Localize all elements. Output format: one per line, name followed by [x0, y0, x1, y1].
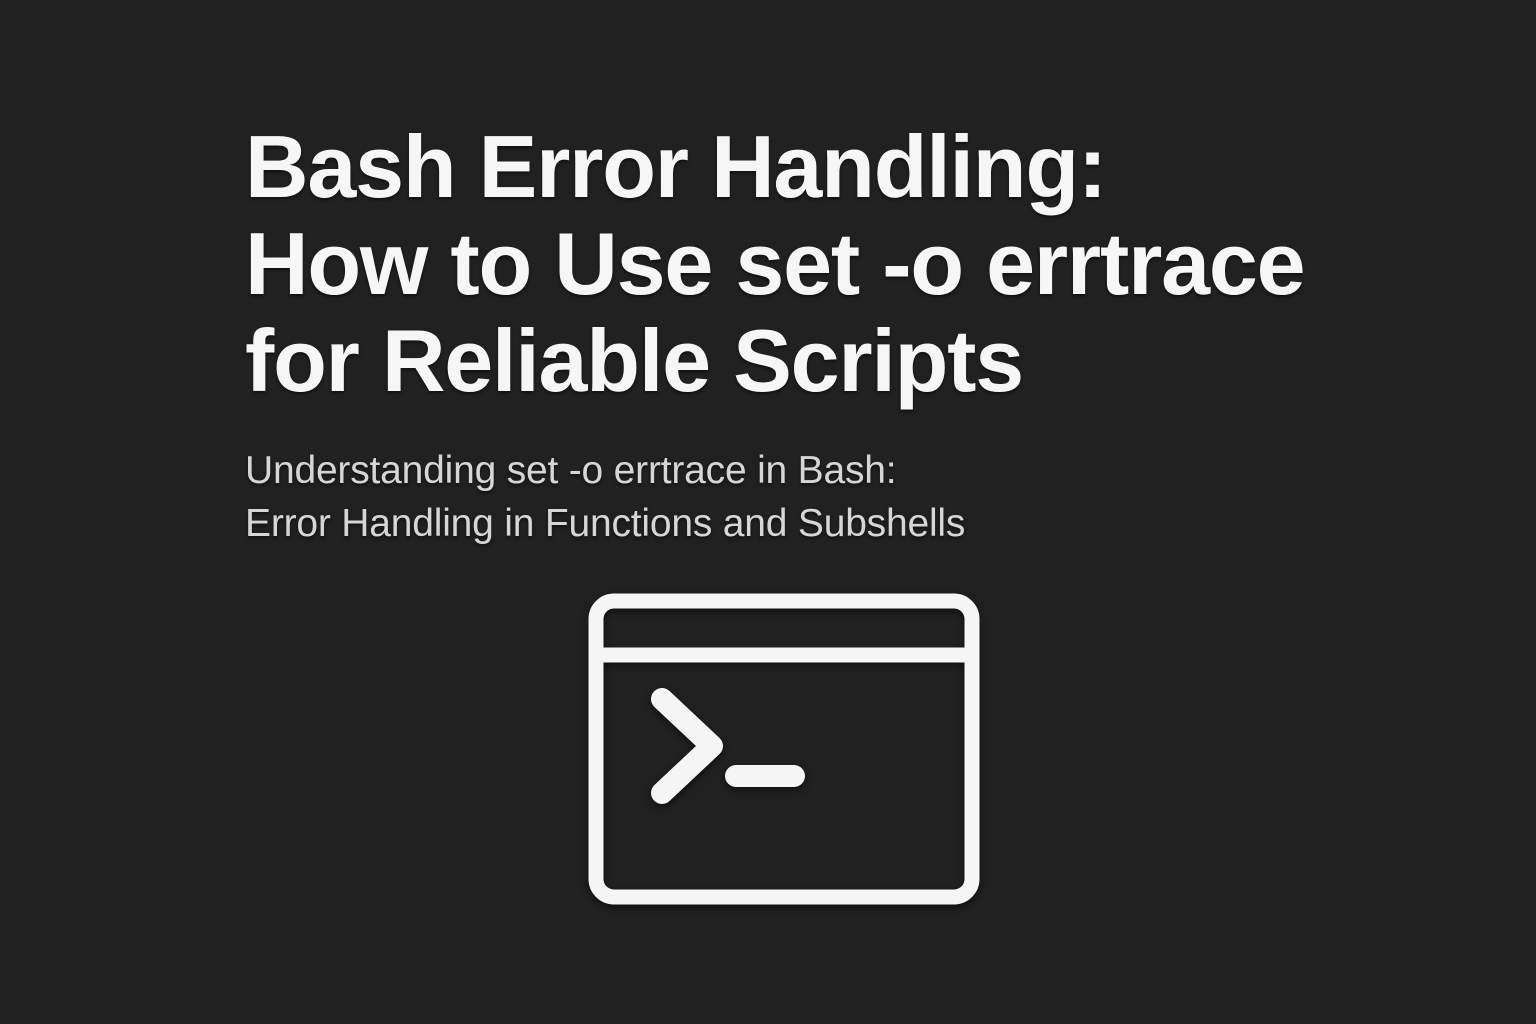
title-line-3: for Reliable Scripts [245, 312, 1425, 409]
subtitle-line-2: Error Handling in Functions and Subshell… [245, 497, 1345, 550]
title-card: Bash Error Handling: How to Use set -o e… [0, 0, 1536, 1024]
subtitle-line-1: Understanding set -o errtrace in Bash: [245, 444, 1345, 497]
page-subtitle: Understanding set -o errtrace in Bash: E… [245, 444, 1345, 550]
terminal-frame-rect [596, 601, 972, 897]
title-line-1: Bash Error Handling: [245, 118, 1425, 215]
title-line-2: How to Use set -o errtrace [245, 215, 1425, 312]
prompt-chevron-icon [662, 699, 712, 793]
terminal-window-icon [588, 593, 980, 905]
page-title: Bash Error Handling: How to Use set -o e… [245, 118, 1425, 409]
